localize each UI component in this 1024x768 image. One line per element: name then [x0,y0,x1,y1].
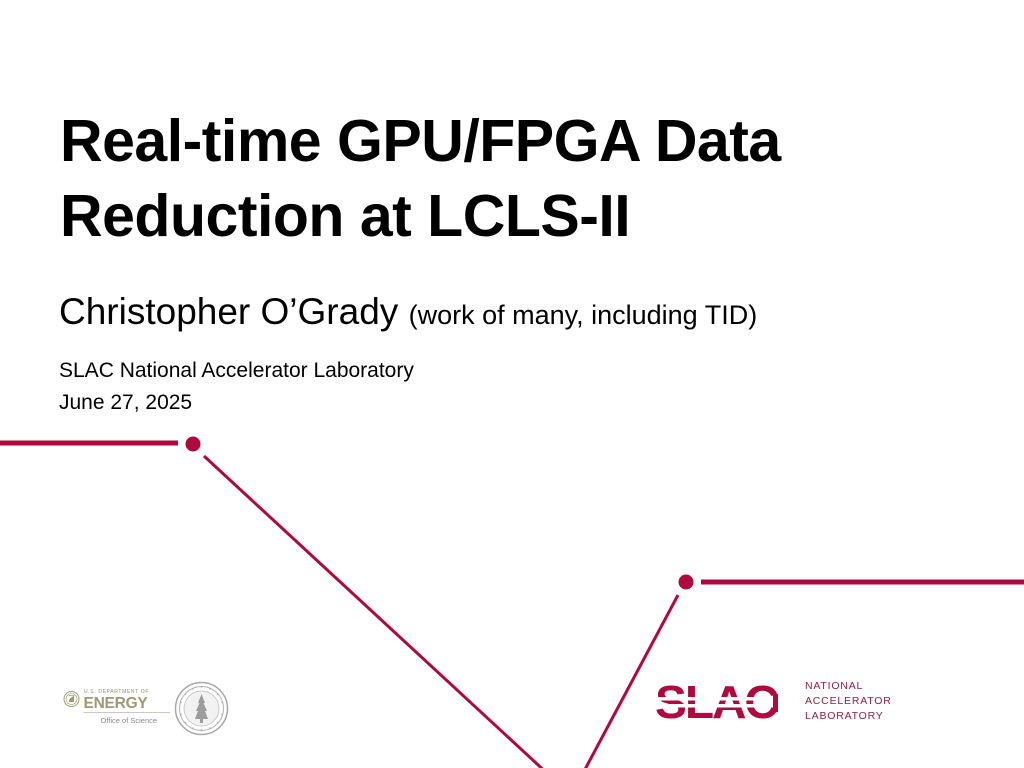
doe-office-of-science-logo: U.S. DEPARTMENT OF ENERGY Office of Scie… [63,682,171,730]
author-line: Christopher O’Grady (work of many, inclu… [59,292,959,333]
affiliation-text: SLAC National Accelerator Laboratory [59,355,959,388]
slac-line-laboratory: LABORATORY [805,710,884,722]
slac-line-national: NATIONAL [805,680,863,692]
left-node-dot [186,437,201,452]
right-node-dot [679,575,694,590]
doe-seal-icon [64,692,79,707]
doe-energy-text: ENERGY [84,695,149,712]
slac-wordmark: SLAC [655,677,790,728]
doe-office-text: Office of Science [101,716,158,725]
slac-national-accelerator-laboratory-logo: SLAC NATIONAL ACCELERATOR LABORATORY [655,672,915,734]
slide-canvas: Real-time GPU/FPGA Data Reduction at LCL… [0,0,1024,768]
title-block: Real-time GPU/FPGA Data Reduction at LCL… [60,104,940,254]
doe-department-text: U.S. DEPARTMENT OF [84,689,149,695]
slac-line-accelerator: ACCELERATOR [805,695,892,707]
slide-title: Real-time GPU/FPGA Data Reduction at LCL… [60,104,940,254]
subtitle-block: Christopher O’Grady (work of many, inclu… [59,292,959,420]
left-diagonal-line [204,456,549,768]
slac-lab-name: NATIONAL ACCELERATOR LABORATORY [805,680,892,722]
author-name: Christopher O’Grady [59,291,409,332]
svg-text:SLAC: SLAC [655,677,778,728]
date-text: June 27, 2025 [59,387,959,420]
stanford-university-seal [174,681,229,736]
author-note: (work of many, including TID) [409,300,758,330]
